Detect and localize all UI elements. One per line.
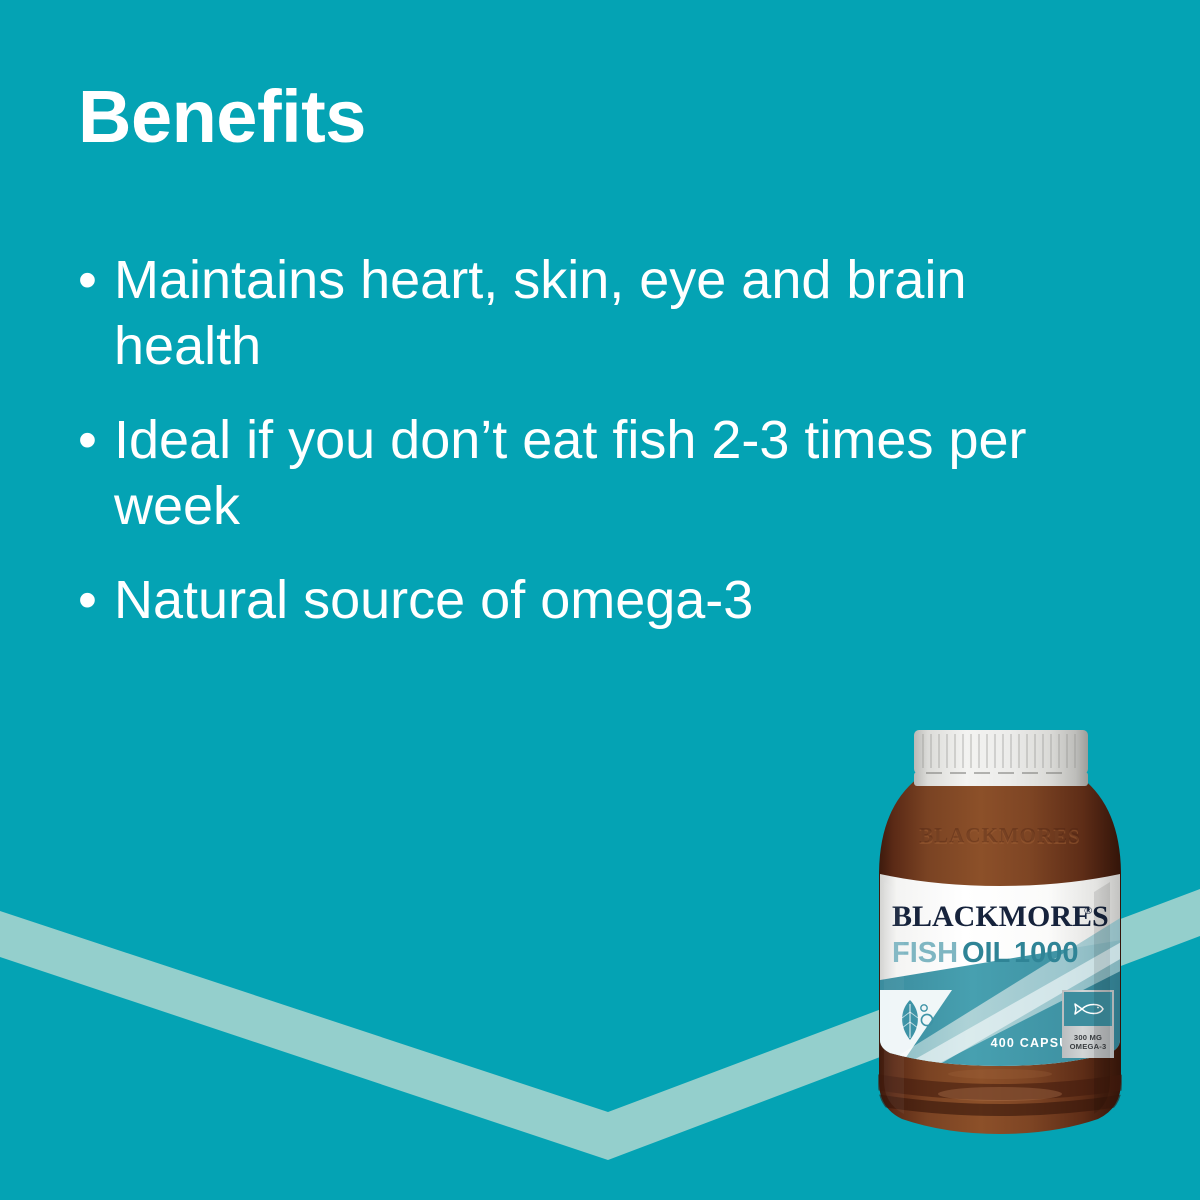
embossed-brand-shadow: BLACKMORES bbox=[919, 823, 1081, 847]
label-variant-oil: OIL bbox=[962, 937, 1010, 969]
registered-trademark-icon: ® bbox=[1084, 905, 1092, 917]
benefit-text: Maintains heart, skin, eye and brain hea… bbox=[114, 248, 1084, 380]
label-variant-strength: 1000 bbox=[1014, 937, 1079, 969]
bullet-glyph: • bbox=[74, 248, 114, 314]
benefit-text: Ideal if you don’t eat fish 2-3 times pe… bbox=[114, 408, 1084, 540]
bottle-cap bbox=[914, 730, 1088, 786]
benefits-list: • Maintains heart, skin, eye and brain h… bbox=[74, 248, 1084, 661]
list-item: • Ideal if you don’t eat fish 2-3 times … bbox=[74, 408, 1084, 540]
list-item: • Maintains heart, skin, eye and brain h… bbox=[74, 248, 1084, 380]
label-brand-text: BLACKMORES bbox=[892, 900, 1109, 933]
page-title: Benefits bbox=[78, 78, 366, 156]
list-item: • Natural source of omega-3 bbox=[74, 568, 1084, 634]
bullet-glyph: • bbox=[74, 568, 114, 634]
bullet-glyph: • bbox=[74, 408, 114, 474]
product-bottle-image: BLACKMORES BLACKMORES bbox=[866, 722, 1136, 1142]
benefit-text: Natural source of omega-3 bbox=[114, 568, 1084, 634]
promo-banner: Benefits • Maintains heart, skin, eye an… bbox=[0, 0, 1200, 1200]
